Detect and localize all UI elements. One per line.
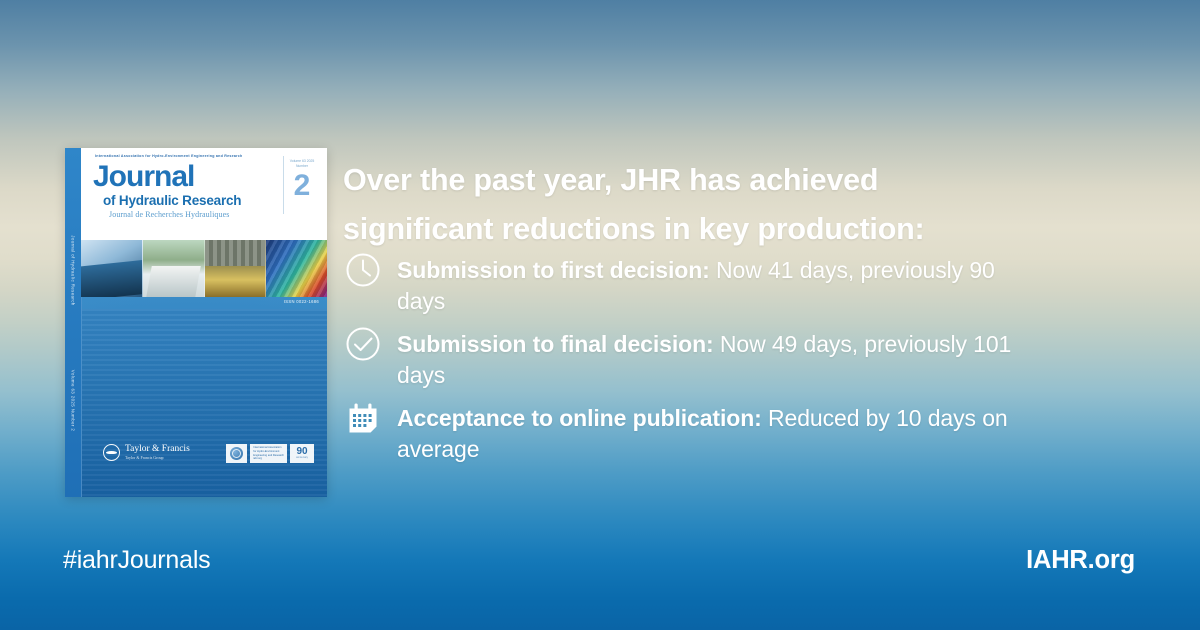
social-card: Journal of Hydraulic Research Volume 63 … [0,0,1200,630]
journal-cover-image: Journal of Hydraulic Research Volume 63 … [65,148,327,497]
cover-subtitle: of Hydraulic Research [103,193,241,208]
iahr-seal: International Association for Hydro-Envi… [226,444,314,463]
globe-icon [230,447,243,460]
anniversary-number: 90 [296,447,307,457]
list-item: Submission to first decision: Now 41 day… [343,252,1043,316]
anniversary-label: anniversary [296,457,308,460]
benefits-list: Submission to first decision: Now 41 day… [343,252,1043,474]
iahr-logo-box [226,444,247,463]
cover-issue-number: 2 [294,171,311,201]
calendar-icon [343,398,383,438]
cover-title: Journal [93,162,194,192]
spine-title: Journal of Hydraulic Research [71,235,76,305]
headline: Over the past year, JHR has achieved sig… [343,156,998,254]
seal-line: iahr.org [253,457,284,461]
cover-photo-ice [81,240,143,297]
hashtag: #iahrJournals [63,546,211,575]
cover-issue-badge: Volume 63 2025 Number 2 [283,156,320,214]
taylor-francis-mark-icon [103,444,120,461]
cover-photo-strip [81,240,327,297]
list-item: Submission to final decision: Now 49 day… [343,326,1043,390]
cover-issn: ISSN 0022-1686 [284,299,319,304]
list-item: Acceptance to online publication: Reduce… [343,400,1043,464]
spine-volume: Volume 63 2025 Number 2 [71,370,76,431]
list-item-label: Acceptance to online publication: [397,405,762,431]
check-circle-icon [343,324,383,364]
clock-icon [343,250,383,290]
list-item-text: Submission to final decision: Now 49 day… [397,326,1043,390]
website-url[interactable]: IAHR.org [1026,546,1135,575]
list-item-label: Submission to first decision: [397,257,710,283]
anniversary-badge: 90 anniversary [290,444,314,463]
cover-volume-label: Volume 63 2025 Number [284,159,320,169]
publisher-name: Taylor & Francis [125,445,190,455]
cover-photo-flume [205,240,267,297]
list-item-text: Acceptance to online publication: Reduce… [397,400,1043,464]
cover-photo-river [143,240,205,297]
taylor-francis-logo: Taylor & Francis Taylor & Francis Group [103,444,190,461]
list-item-text: Submission to first decision: Now 41 day… [397,252,1043,316]
publisher-group: Taylor & Francis Group [125,455,190,460]
cover-subtitle-french: Journal de Recherches Hydrauliques [109,210,229,219]
list-item-label: Submission to final decision: [397,331,714,357]
cover-masthead: International Association for Hydro-Envi… [81,148,327,240]
cover-photo-simulation [266,240,327,297]
cover-spine: Journal of Hydraulic Research Volume 63 … [65,148,82,497]
iahr-seal-text: International Association for Hydro-Envi… [250,444,287,463]
